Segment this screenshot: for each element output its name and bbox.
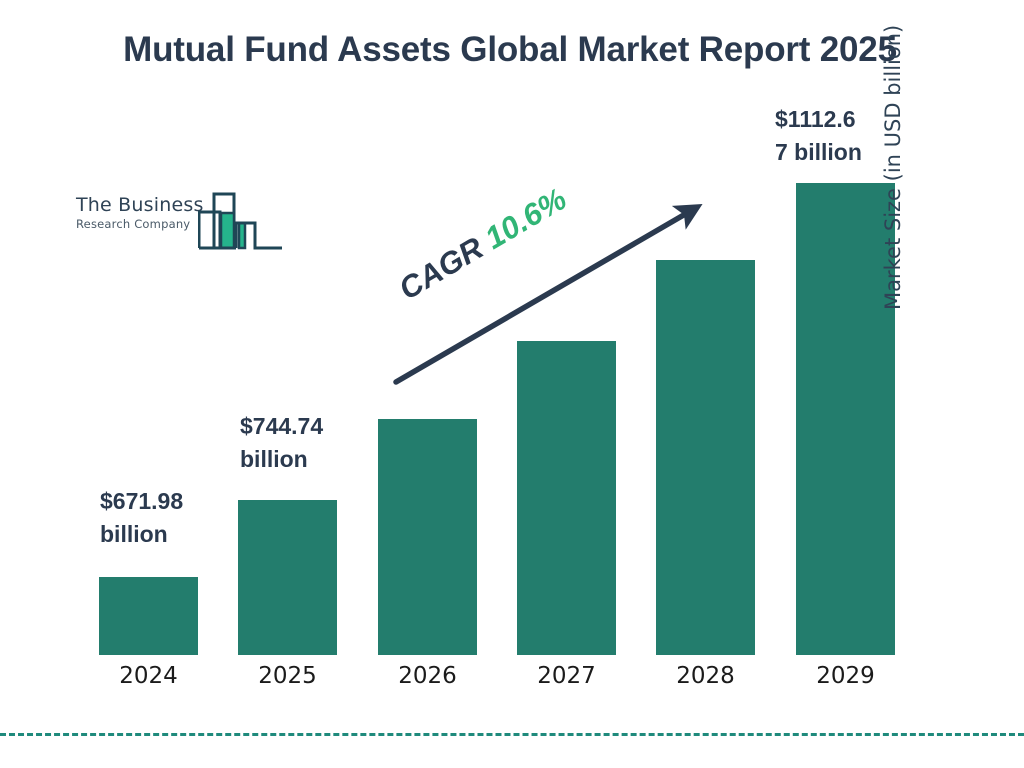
bar-chart: $671.98 billion $744.74 billion $1112.6 … <box>0 0 1024 768</box>
value-label-2024-line1: $671.98 <box>100 485 240 518</box>
x-tick-2029: 2029 <box>796 663 895 689</box>
value-label-2025-line2: billion <box>240 443 380 476</box>
y-axis-title: Market Size (in USD billion) <box>881 0 905 310</box>
bar-2024 <box>99 577 198 655</box>
value-label-2024: $671.98 billion <box>100 485 240 550</box>
x-tick-2027: 2027 <box>517 663 616 689</box>
bar-2025 <box>238 500 337 655</box>
x-tick-2025: 2025 <box>238 663 337 689</box>
x-tick-2026: 2026 <box>378 663 477 689</box>
footer-divider <box>0 733 1024 736</box>
value-label-2024-line2: billion <box>100 518 240 551</box>
value-label-2025: $744.74 billion <box>240 410 380 475</box>
value-label-2025-line1: $744.74 <box>240 410 380 443</box>
x-tick-2024: 2024 <box>99 663 198 689</box>
x-tick-2028: 2028 <box>656 663 755 689</box>
bar-2026 <box>378 419 477 655</box>
